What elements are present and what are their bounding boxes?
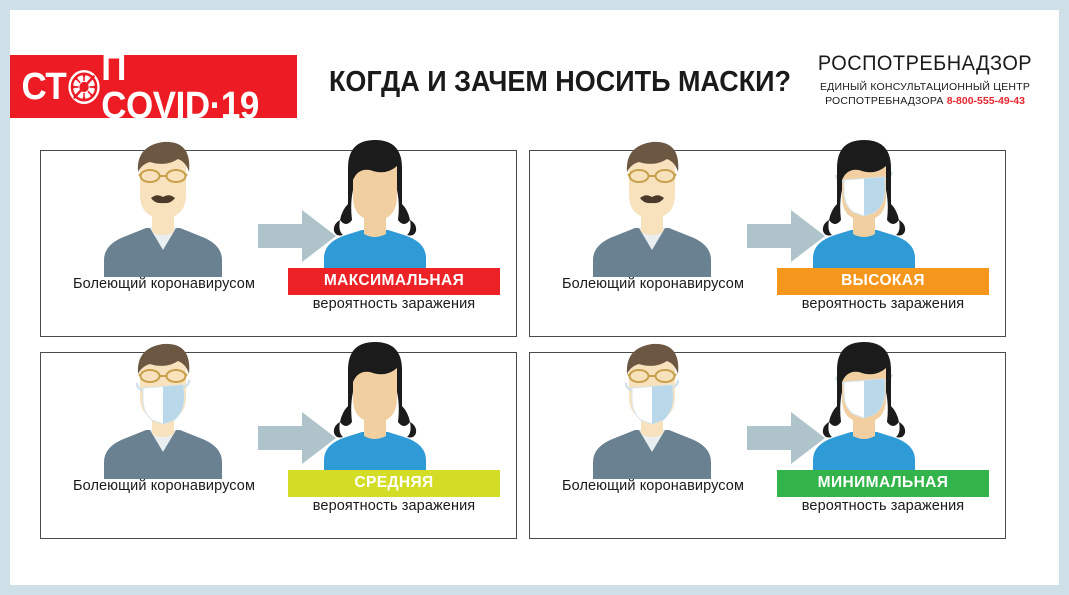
risk-badge: МИНИМАЛЬНАЯ <box>777 470 989 497</box>
org-subtitle-line2-text: РОСПОТРЕБНАДЗОРА <box>825 95 944 107</box>
virus-prohibition-icon <box>67 69 100 105</box>
risk-panel-content: Болеющий коронавирусом МАКСИМАЛЬНАЯ веро… <box>40 150 515 335</box>
figure-healthy-woman <box>300 132 450 277</box>
org-block: РОСПОТРЕБНАДЗОР ЕДИНЫЙ КОНСУЛЬТАЦИОННЫЙ … <box>800 52 1050 108</box>
stop-covid-logo-text: СТ <box>21 49 285 125</box>
panels-grid: Болеющий коронавирусом МАКСИМАЛЬНАЯ веро… <box>10 135 1059 550</box>
org-subtitle-line1: ЕДИНЫЙ КОНСУЛЬТАЦИОННЫЙ ЦЕНТР <box>800 80 1050 94</box>
stop-covid-logo: СТ <box>10 55 297 118</box>
figure-masked-woman <box>789 334 939 479</box>
logo-suffix: П COVID·19 <box>101 49 285 125</box>
risk-sublabel: вероятность заражения <box>313 296 475 312</box>
risk-sublabel: вероятность заражения <box>802 296 964 312</box>
header: СТ <box>10 40 1059 130</box>
source-label: Болеющий коронавирусом <box>543 478 763 494</box>
source-label: Болеющий коронавирусом <box>54 276 274 292</box>
figure-masked-woman <box>789 132 939 277</box>
figure-masked-man <box>577 334 727 479</box>
org-name: РОСПОТРЕБНАДЗОР <box>806 52 1044 76</box>
risk-badge: ВЫСОКАЯ <box>777 268 989 295</box>
risk-badge: МАКСИМАЛЬНАЯ <box>288 268 500 295</box>
org-subtitle-line2: РОСПОТРЕБНАДЗОРА 8-800-555-49-43 <box>800 94 1050 108</box>
risk-block: МАКСИМАЛЬНАЯ вероятность заражения <box>288 268 500 313</box>
hotline-phone: 8-800-555-49-43 <box>947 95 1025 107</box>
figure-masked-man <box>88 334 238 479</box>
figure-infected-man <box>577 132 727 277</box>
risk-sublabel: вероятность заражения <box>313 498 475 514</box>
logo-prefix: СТ <box>21 68 66 106</box>
risk-block: МИНИМАЛЬНАЯ вероятность заражения <box>777 470 989 515</box>
figure-healthy-woman <box>300 334 450 479</box>
figure-infected-man <box>88 132 238 277</box>
risk-sublabel: вероятность заражения <box>802 498 964 514</box>
risk-block: СРЕДНЯЯ вероятность заражения <box>288 470 500 515</box>
risk-panel-content: Болеющий коронавирусом МИНИМАЛЬНАЯ вероя… <box>529 352 1004 537</box>
infographic-page: СТ <box>10 10 1059 585</box>
risk-badge: СРЕДНЯЯ <box>288 470 500 497</box>
source-label: Болеющий коронавирусом <box>543 276 763 292</box>
risk-panel-content: Болеющий коронавирусом ВЫСОКАЯ вероятнос… <box>529 150 1004 335</box>
risk-panel-content: Болеющий коронавирусом СРЕДНЯЯ вероятнос… <box>40 352 515 537</box>
org-subtitle: ЕДИНЫЙ КОНСУЛЬТАЦИОННЫЙ ЦЕНТР РОСПОТРЕБН… <box>800 80 1050 108</box>
source-label: Болеющий коронавирусом <box>54 478 274 494</box>
risk-block: ВЫСОКАЯ вероятность заражения <box>777 268 989 313</box>
page-title: КОГДА И ЗАЧЕМ НОСИТЬ МАСКИ? <box>328 66 793 99</box>
